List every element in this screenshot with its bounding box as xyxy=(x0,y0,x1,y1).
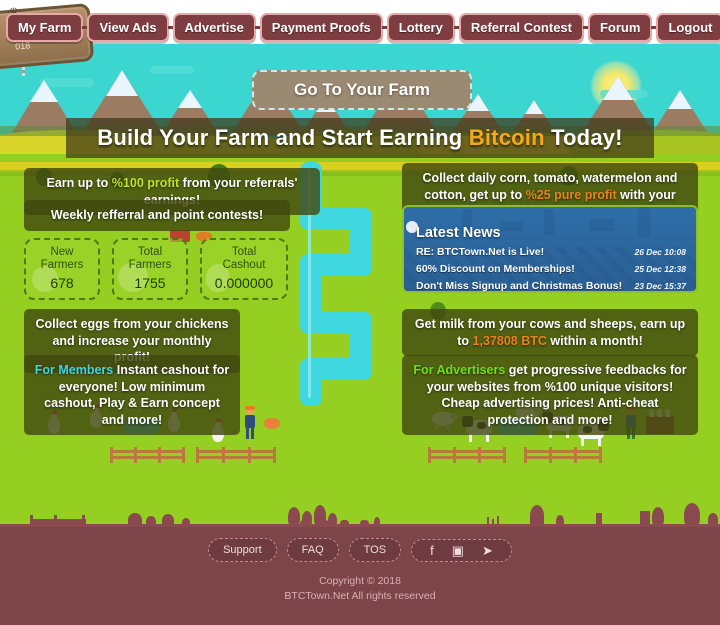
referral-pre: Earn up to xyxy=(47,176,112,190)
news-item-title[interactable]: Don't Miss Signup and Christmas Bonus! xyxy=(416,280,622,292)
farmer-sprite xyxy=(243,408,257,440)
news-item-title[interactable]: 60% Discount on Memberships! xyxy=(416,263,575,275)
copyright-block: Copyright © 2018 BTCTown.Net All rights … xyxy=(0,574,720,604)
fence xyxy=(524,447,602,463)
page-footer: Support FAQ TOS f ▣ ➤ Copyright © 2018 B… xyxy=(0,527,720,625)
panel-get-milk: Get milk from your cows and sheeps, earn… xyxy=(402,309,698,356)
stat-label-line1: Total xyxy=(116,246,184,259)
river-segment xyxy=(300,358,322,406)
copyright-line-1: Copyright © 2018 xyxy=(0,574,720,589)
nav-item-logout[interactable]: Logout xyxy=(656,13,720,42)
stats-row: New Farmers 678 Total Farmers 1755 Total… xyxy=(24,238,288,300)
fence xyxy=(110,447,185,463)
stat-label-line2: Cashout xyxy=(204,259,284,272)
nav-item-my-farm[interactable]: My Farm xyxy=(6,13,83,42)
nav-item-payment-proofs[interactable]: Payment Proofs xyxy=(260,13,383,42)
fence xyxy=(428,447,506,463)
nav-item-view-ads[interactable]: View Ads xyxy=(87,13,168,42)
news-item-date: 25 Dec 12:38 xyxy=(634,264,686,274)
stat-label-line1: New xyxy=(28,246,96,259)
footer-social-group: f ▣ ➤ xyxy=(411,539,512,562)
instagram-icon[interactable]: ▣ xyxy=(452,544,464,557)
footer-link-support[interactable]: Support xyxy=(208,538,277,562)
stat-label-line2: Farmers xyxy=(28,259,96,272)
stat-value: 1755 xyxy=(116,275,184,291)
news-item-date: 23 Dec 15:37 xyxy=(634,281,686,291)
milk-post: within a month! xyxy=(547,334,643,348)
copyright-line-2: BTCTown.Net All rights reserved xyxy=(0,589,720,604)
footer-link-tos[interactable]: TOS xyxy=(349,538,401,562)
stat-value: 678 xyxy=(28,275,96,291)
nav-item-advertise[interactable]: Advertise xyxy=(173,13,256,42)
panel-weekly-contests: Weekly refferral and point contests! xyxy=(24,200,290,231)
nav-item-forum[interactable]: Forum xyxy=(588,13,652,42)
panel-for-advertisers: For Advertisers get progressive feedback… xyxy=(402,355,698,435)
nav-item-lottery[interactable]: Lottery xyxy=(387,13,455,42)
hero-headline: Build Your Farm and Start Earning Bitcoi… xyxy=(66,118,654,158)
news-item-date: 26 Dec 10:08 xyxy=(634,247,686,257)
panel-for-members: For Members Instant cashout for everyone… xyxy=(24,355,240,435)
milk-highlight: 1,37808 BTC xyxy=(473,334,547,348)
footer-links: Support FAQ TOS f ▣ ➤ xyxy=(0,527,720,562)
go-to-farm-button[interactable]: Go To Your Farm xyxy=(252,70,472,110)
members-highlight: For Members xyxy=(35,363,114,377)
footer-link-faq[interactable]: FAQ xyxy=(287,538,339,562)
page-root: ♛ WN.NET 018 Go To Your Farm Build Your … xyxy=(0,0,720,625)
stat-new-farmers: New Farmers 678 xyxy=(24,238,100,300)
latest-news-title: Latest News xyxy=(416,225,686,241)
latest-news-panel: Latest News RE: BTCTown.Net is Live! 26 … xyxy=(402,205,698,293)
fence xyxy=(196,447,276,463)
news-item[interactable]: 60% Discount on Memberships! 25 Dec 12:3… xyxy=(416,263,686,275)
headline-pre: Build Your Farm and Start Earning xyxy=(97,125,468,150)
news-item[interactable]: RE: BTCTown.Net is Live! 26 Dec 10:08 xyxy=(416,246,686,258)
twitter-icon[interactable]: ➤ xyxy=(482,544,493,557)
haystack-sprite xyxy=(264,418,280,429)
stat-total-cashout: Total Cashout 0.000000 xyxy=(200,238,288,300)
stat-label-line2: Farmers xyxy=(116,259,184,272)
main-navigation: My Farm View Ads Advertise Payment Proof… xyxy=(0,10,720,44)
facebook-icon[interactable]: f xyxy=(430,544,434,557)
headline-bitcoin: Bitcoin xyxy=(469,125,545,150)
stat-value: 0.000000 xyxy=(204,275,284,291)
horizon-silhouette xyxy=(0,493,720,527)
news-item[interactable]: Don't Miss Signup and Christmas Bonus! 2… xyxy=(416,280,686,292)
nav-item-referral-contest[interactable]: Referral Contest xyxy=(459,13,584,42)
referral-highlight: %100 profit xyxy=(112,176,179,190)
headline-post: Today! xyxy=(545,125,623,150)
news-item-title[interactable]: RE: BTCTown.Net is Live! xyxy=(416,246,544,258)
stat-total-farmers: Total Farmers 1755 xyxy=(112,238,188,300)
stat-label-line1: Total xyxy=(204,246,284,259)
crops-highlight: %25 pure profit xyxy=(526,188,617,202)
advertisers-highlight: For Advertisers xyxy=(413,363,505,377)
